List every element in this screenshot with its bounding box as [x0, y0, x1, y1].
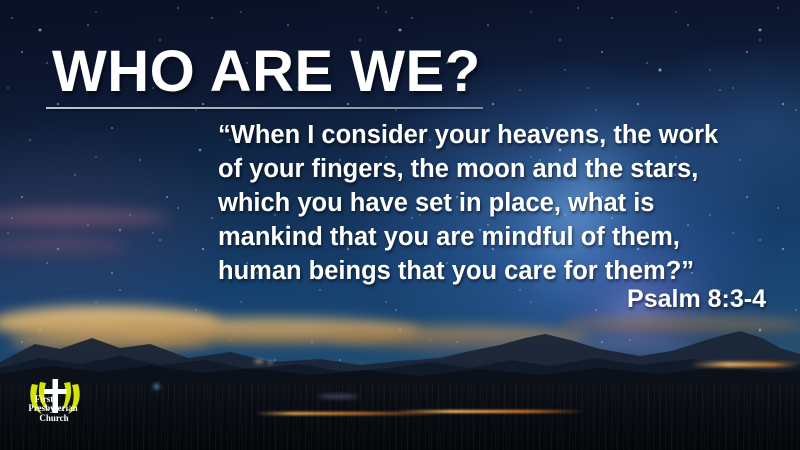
logo-text: First Presbyterian Church: [28, 394, 77, 423]
foreground-trees-texture: [0, 385, 800, 450]
church-logo: First Presbyterian Church: [22, 376, 88, 428]
svg-text:Presbyterian: Presbyterian: [28, 403, 77, 413]
scripture-line: mankind that you are mindful of them,: [218, 220, 766, 254]
scripture-line: “When I consider your heavens, the work: [218, 118, 766, 152]
svg-text:Church: Church: [39, 413, 68, 423]
town-lights-right: [690, 362, 800, 367]
light-point-teal: [154, 384, 159, 389]
scripture-reference: Psalm 8:3-4: [218, 285, 766, 314]
light-point-violet: [318, 395, 358, 398]
light-point-amber-1: [268, 361, 272, 364]
scripture-line: which you have set in place, what is: [218, 186, 766, 220]
town-lights-center: [395, 410, 585, 413]
scripture-text: “When I consider your heavens, the work …: [218, 118, 766, 288]
light-point-amber-2: [254, 360, 264, 363]
scripture-line: human beings that you care for them?”: [218, 254, 766, 288]
title-divider: [46, 107, 483, 109]
presentation-slide: WHO ARE WE? “When I consider your heaven…: [0, 0, 800, 450]
scripture-line: of your fingers, the moon and the stars,: [218, 152, 766, 186]
page-title: WHO ARE WE?: [52, 43, 481, 101]
